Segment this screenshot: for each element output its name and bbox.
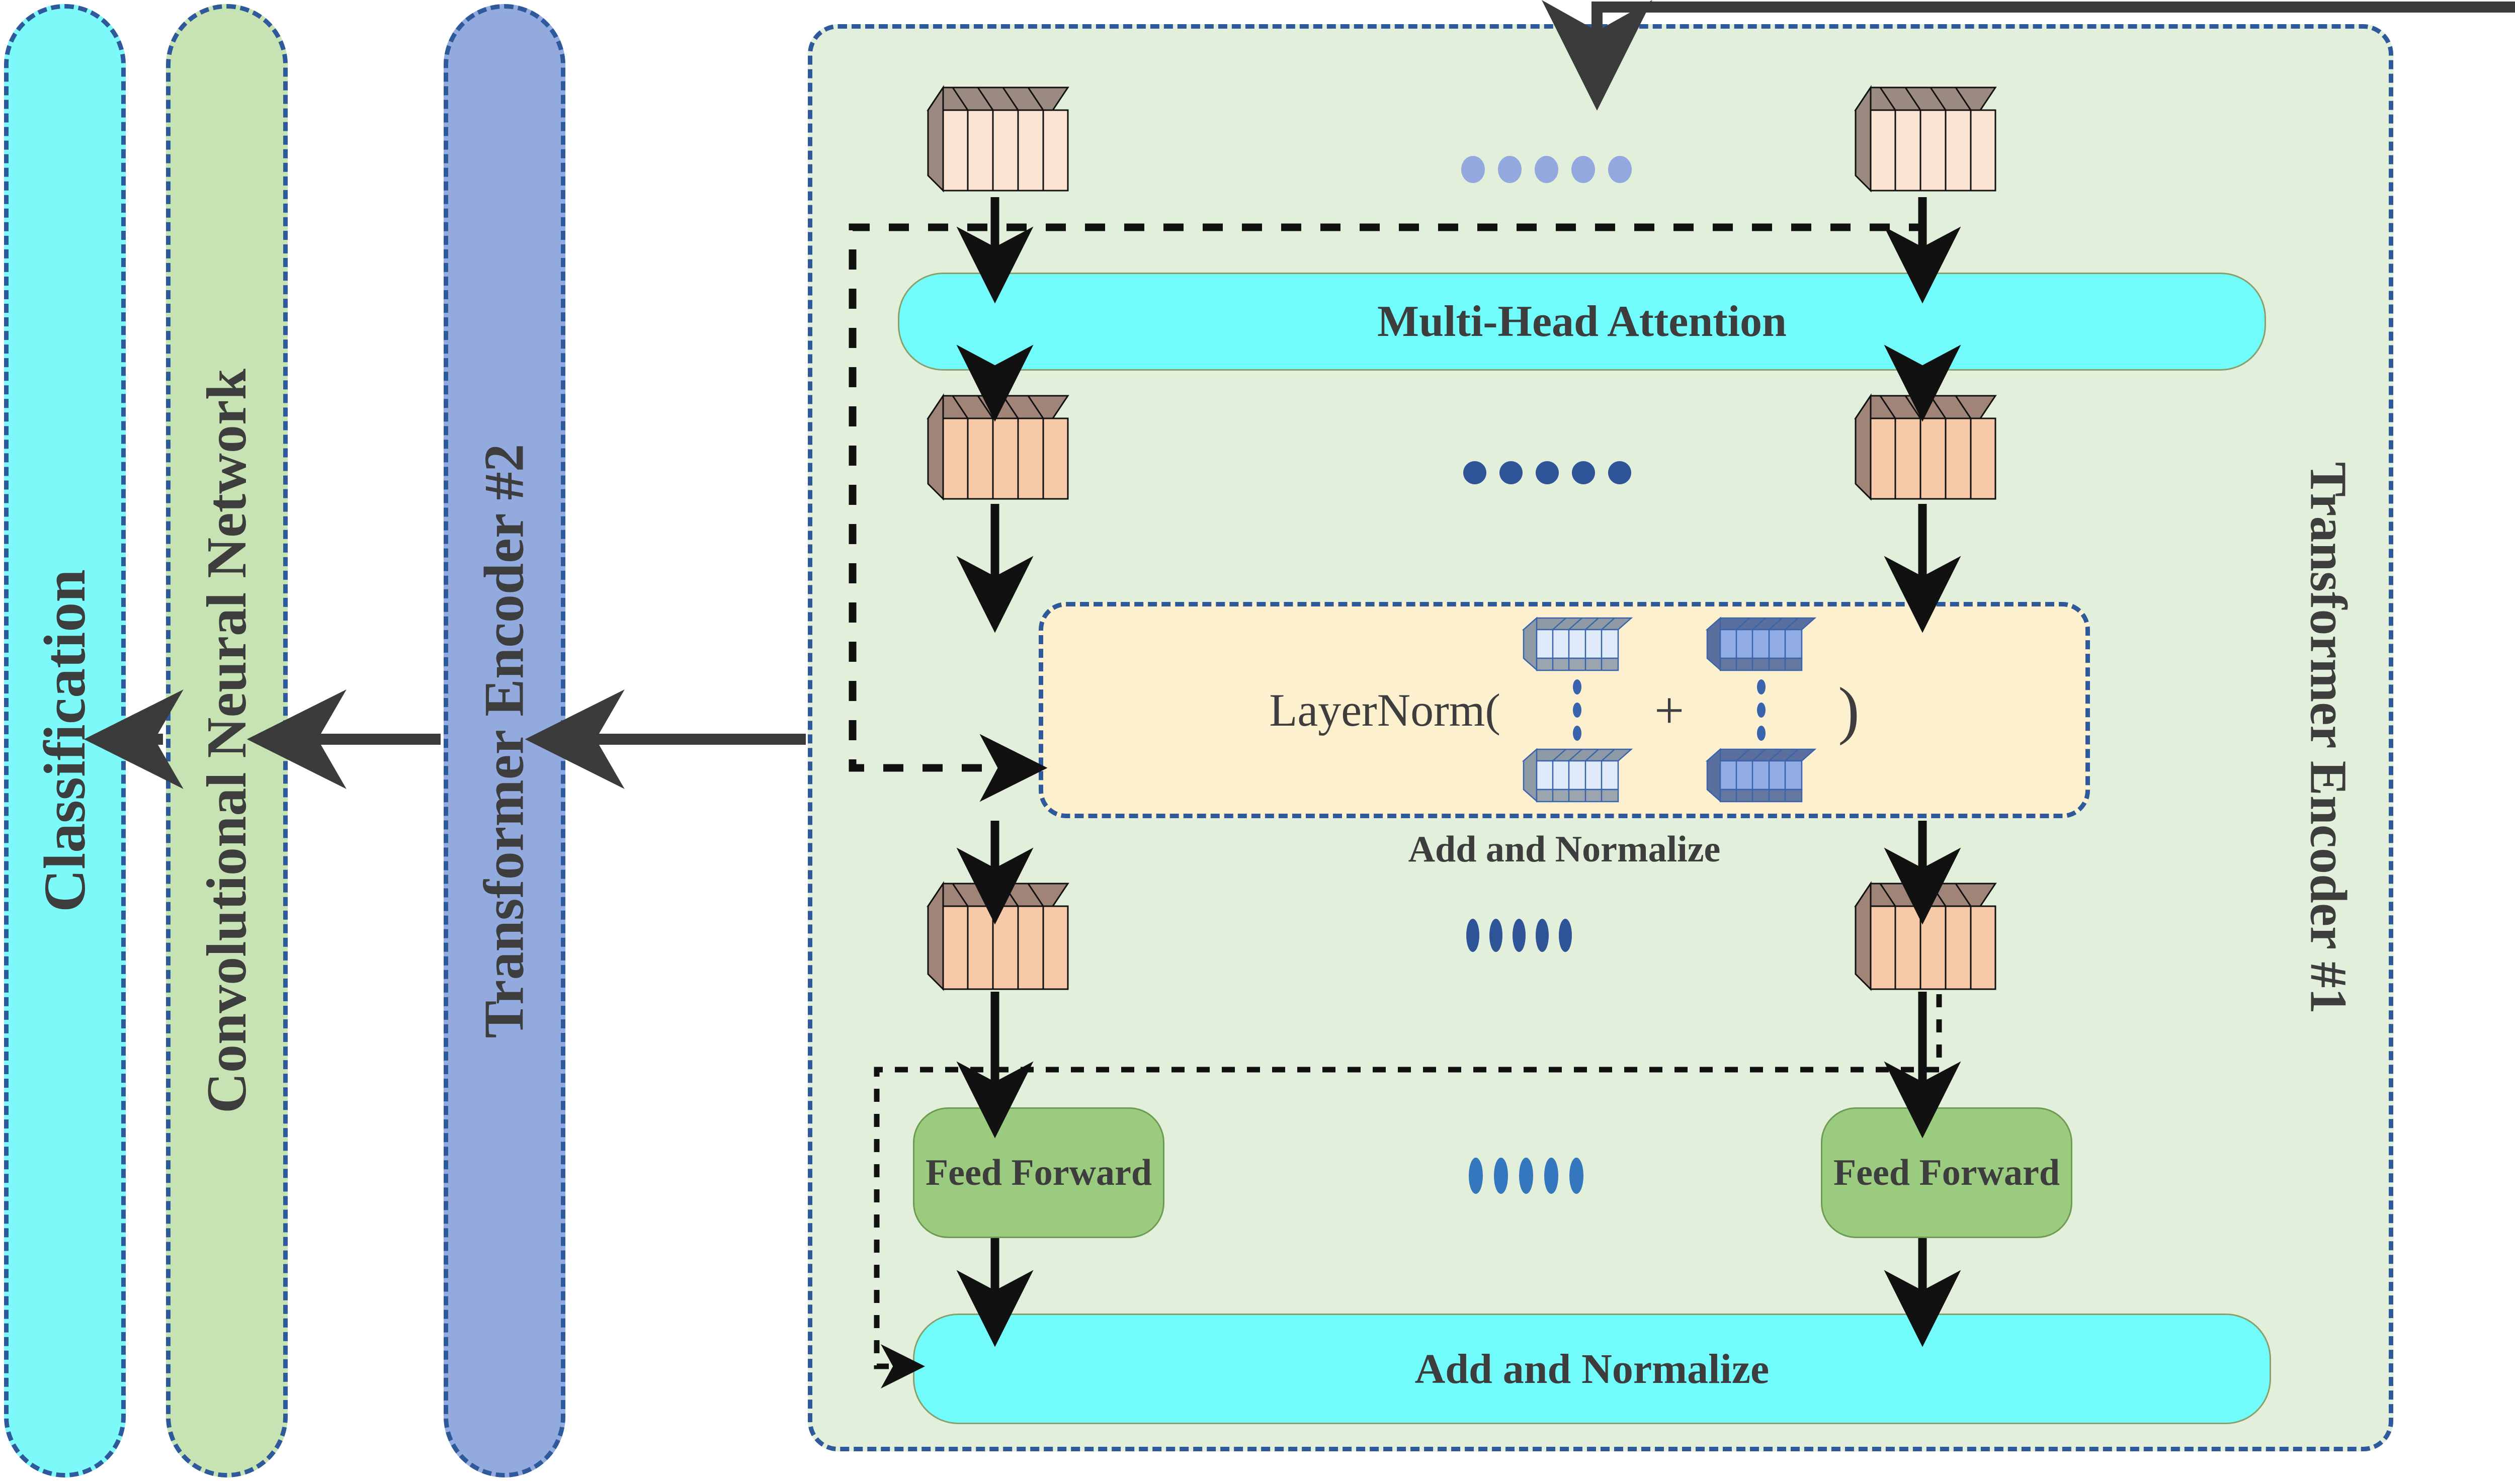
- layernorm-plus-symbol: +: [1654, 680, 1684, 741]
- ellipsis-dots-mid: [1463, 461, 1631, 484]
- layernorm-close-label: ): [1838, 673, 1860, 747]
- token-stack-mid-left: [917, 391, 1073, 504]
- panel-encoder2-label: Transformer Encoder #2: [472, 444, 537, 1038]
- multi-head-attention-label: Multi-Head Attention: [1377, 296, 1787, 347]
- ellipsis-dots-top: [1461, 156, 1632, 183]
- vertical-ellipsis-right: [1757, 679, 1766, 741]
- token-stack-low-left: [917, 879, 1073, 994]
- transformer-encoder-1-label: Transformer Encoder #1: [2299, 462, 2359, 1014]
- mini-block-right-bottom: [1703, 747, 1819, 805]
- add-normalize-bar[interactable]: Add and Normalize: [913, 1314, 2271, 1424]
- layernorm-operand-left: [1520, 616, 1635, 805]
- encoder-side-label-holder: Transformer Encoder #1: [2273, 29, 2384, 1447]
- add-normalize-bar-label: Add and Normalize: [1415, 1345, 1770, 1393]
- panel-classification-label: Classification: [31, 569, 99, 912]
- mini-block-left-top: [1520, 616, 1635, 673]
- layernorm-open-label: LayerNorm(: [1269, 683, 1500, 737]
- panel-classification[interactable]: Classification: [4, 4, 126, 1477]
- feed-forward-right[interactable]: Feed Forward: [1821, 1107, 2072, 1238]
- token-stack-top-right: [1845, 82, 2000, 196]
- token-stack-mid-right: [1845, 391, 2000, 504]
- layernorm-operand-right: [1703, 616, 1819, 805]
- layernorm-box[interactable]: LayerNorm(: [1039, 602, 2090, 818]
- ellipsis-dots-ff: [1469, 1158, 1583, 1194]
- mini-block-left-bottom: [1520, 747, 1635, 805]
- feed-forward-right-label: Feed Forward: [1833, 1152, 2060, 1194]
- multi-head-attention-bar[interactable]: Multi-Head Attention: [898, 273, 2266, 371]
- vertical-ellipsis-left: [1573, 679, 1581, 741]
- transformer-encoder-1-panel[interactable]: Transformer Encoder #1: [808, 24, 2393, 1451]
- ellipsis-dots-low: [1466, 919, 1572, 952]
- add-normalize-caption: Add and Normalize: [1039, 828, 2090, 871]
- token-stack-top-left: [917, 82, 1073, 196]
- panel-transformer-encoder-2[interactable]: Transformer Encoder #2: [444, 4, 565, 1477]
- panel-cnn-label: Convolutional Neural Network: [195, 369, 260, 1113]
- token-stack-low-right: [1845, 879, 2000, 994]
- panel-convolutional-neural-network[interactable]: Convolutional Neural Network: [166, 4, 288, 1477]
- mini-block-right-top: [1703, 616, 1819, 673]
- feed-forward-left-label: Feed Forward: [926, 1152, 1152, 1194]
- feed-forward-left[interactable]: Feed Forward: [913, 1107, 1164, 1238]
